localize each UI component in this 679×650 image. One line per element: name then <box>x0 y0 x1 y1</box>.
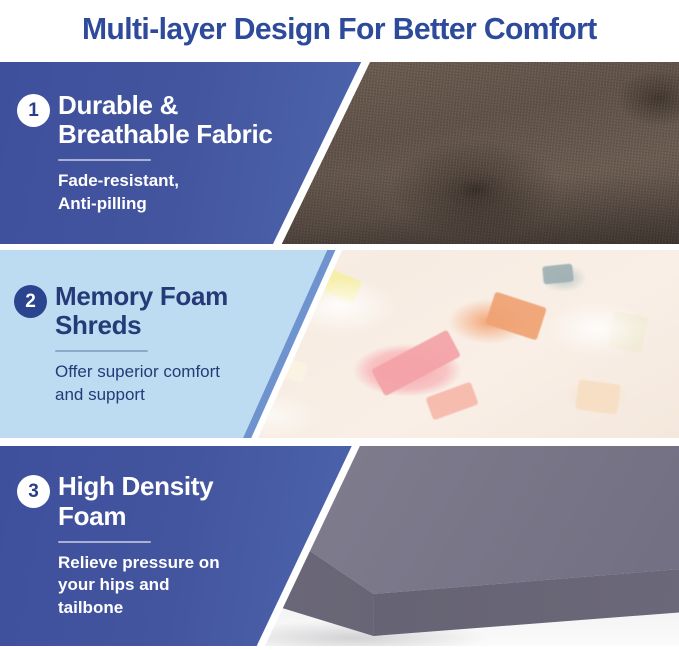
infographic-root: Multi-layer Design For Better Comfort 1 … <box>0 0 679 650</box>
panel-3-copy: 3 High Density Foam Relieve pressure on … <box>17 446 317 646</box>
panel-3-subtext: Relieve pressure on your hips and tailbo… <box>58 552 317 620</box>
panel-1-copy: 1 Durable & Breathable Fabric Fade-resis… <box>17 62 317 244</box>
panel-3-heading: High Density Foam <box>58 472 213 531</box>
step-badge-1: 1 <box>17 94 50 127</box>
panel-3-divider <box>58 541 151 543</box>
panel-1-heading: Durable & Breathable Fabric <box>58 91 273 150</box>
panel-3-heading-row: 3 High Density Foam <box>17 472 317 531</box>
page-title: Multi-layer Design For Better Comfort <box>82 11 597 47</box>
step-badge-3: 3 <box>17 475 50 508</box>
feature-panel-3: 3 High Density Foam Relieve pressure on … <box>0 446 679 646</box>
panel-2-divider <box>55 350 148 352</box>
panel-2-heading-row: 2 Memory Foam Shreds <box>14 282 314 341</box>
panel-2-subtext: Offer superior comfort and support <box>55 361 314 406</box>
panel-1-subtext: Fade-resistant, Anti-pilling <box>58 170 317 215</box>
panel-2-copy: 2 Memory Foam Shreds Offer superior comf… <box>14 250 314 438</box>
step-badge-2: 2 <box>14 285 47 318</box>
title-bar: Multi-layer Design For Better Comfort <box>0 0 679 58</box>
panel-1-divider <box>58 159 151 161</box>
panel-2-heading: Memory Foam Shreds <box>55 282 228 341</box>
feature-panel-2: 2 Memory Foam Shreds Offer superior comf… <box>0 250 679 438</box>
panel-1-heading-row: 1 Durable & Breathable Fabric <box>17 91 317 150</box>
feature-panel-1: 1 Durable & Breathable Fabric Fade-resis… <box>0 62 679 244</box>
